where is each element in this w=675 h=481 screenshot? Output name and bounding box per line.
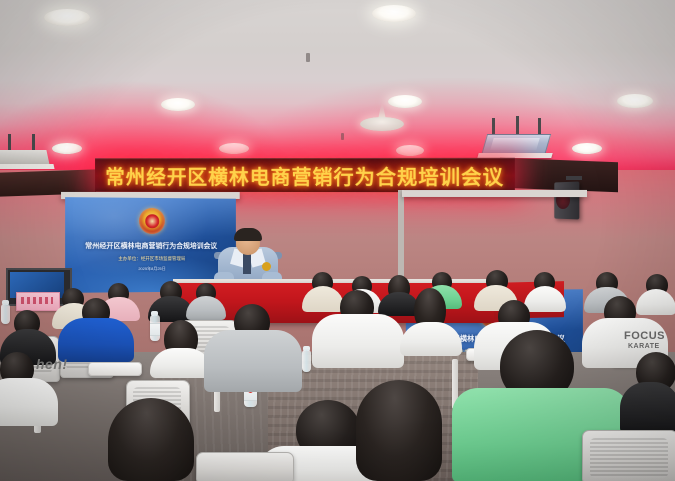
ceiling-downlight bbox=[388, 95, 422, 108]
attendee-head bbox=[108, 398, 194, 481]
shirt-text-hen: hen! bbox=[36, 356, 68, 372]
ceiling-fixture-dot bbox=[341, 133, 344, 140]
officer-badge-icon bbox=[262, 262, 271, 271]
projector-body-right bbox=[490, 138, 539, 150]
water-bottle[interactable] bbox=[1, 304, 10, 324]
attendee-shoulders bbox=[204, 330, 302, 392]
pendant-ceiling-lamp bbox=[360, 117, 404, 131]
slide-subtitle: 主办单位：经开区市场监督管理局 bbox=[65, 256, 236, 263]
attendee-head bbox=[356, 380, 442, 481]
screen-housing-right bbox=[402, 190, 587, 197]
conference-room-photo: 常州经开区横林电商营销行为合规培训会议 常州经开区横林电商营销行为合规培训会议 … bbox=[0, 0, 675, 481]
officer-hair bbox=[234, 228, 262, 241]
water-bottle[interactable] bbox=[302, 350, 311, 372]
shirt-text-focus: FOCUS bbox=[624, 330, 665, 342]
bottle-label bbox=[150, 323, 160, 336]
slide-title: 常州经开区横林电商营销行为合规培训会议 bbox=[65, 241, 236, 251]
projector-plate-left bbox=[0, 164, 55, 169]
led-banner-text: 常州经开区横林电商营销行为合规培训会议 bbox=[95, 159, 515, 192]
chair-tablet-arm[interactable] bbox=[88, 362, 142, 376]
slide-date: 2025年8月25日 bbox=[65, 265, 236, 272]
chair-back[interactable] bbox=[196, 452, 294, 481]
ceiling-downlight bbox=[52, 143, 82, 154]
attendee-shoulders bbox=[400, 322, 462, 356]
ceiling-downlight bbox=[572, 143, 602, 154]
ceiling-downlight bbox=[372, 5, 416, 22]
ceiling-downlight bbox=[396, 145, 424, 156]
speaker-mount-arm bbox=[566, 176, 582, 180]
ceiling-fixture-dot bbox=[306, 53, 310, 62]
attendee-shoulders bbox=[58, 318, 134, 362]
ceiling-downlight bbox=[161, 98, 195, 111]
attendee-shoulders bbox=[620, 382, 675, 434]
ceiling-projector-left bbox=[0, 150, 50, 165]
attendee-shoulders bbox=[0, 378, 58, 426]
seat-name-sign-text bbox=[21, 297, 53, 304]
ceiling-downlight bbox=[617, 94, 653, 108]
chair-mesh bbox=[590, 438, 668, 478]
attendee-shoulders bbox=[150, 348, 212, 378]
led-banner: 常州经开区横林电商营销行为合规培训会议 bbox=[95, 158, 515, 192]
attendee-shoulders bbox=[312, 314, 404, 368]
ceiling-downlight bbox=[44, 9, 90, 26]
officer-tie bbox=[243, 254, 251, 274]
ceiling-downlight bbox=[219, 143, 249, 154]
shirt-text-karate: KARATE bbox=[628, 343, 660, 350]
